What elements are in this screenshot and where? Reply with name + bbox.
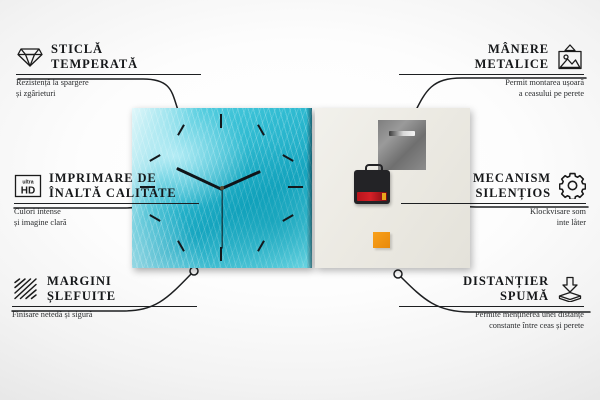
callout-description: Klockvisare som inte låter: [401, 207, 586, 229]
callout-title: MARGINI ȘLEFUITE: [47, 274, 116, 303]
callout-divider: [12, 306, 197, 307]
ultra-hd-icon: ultra HD: [14, 172, 42, 200]
callout-high-quality-print: ultra HD IMPRIMARE DE ÎNALTĂ CALITATE Cu…: [14, 171, 199, 229]
callout-polished-edges: MARGINI ȘLEFUITE Finisare netedă și sigu…: [12, 274, 197, 321]
hanger-slot: [389, 131, 415, 136]
callout-divider: [399, 74, 584, 75]
polished-edges-icon: [12, 275, 40, 303]
mechanism-hook: [365, 164, 383, 174]
clock-hour-hand: [221, 170, 261, 190]
foam-spacer-icon: [556, 275, 584, 303]
callout-divider: [399, 306, 584, 307]
battery: [357, 192, 387, 201]
callout-divider: [14, 203, 199, 204]
callout-description: Permit montarea ușoară a ceasului pe per…: [399, 78, 584, 100]
callout-divider: [401, 203, 586, 204]
callout-title: STICLĂ TEMPERATĂ: [51, 42, 138, 71]
callout-description: Permite menținerea unei distanțe constan…: [399, 310, 584, 332]
foam-spacer-pad: [373, 232, 390, 248]
callout-description: Culori intense și imagine clară: [14, 207, 199, 229]
callout-silent-mechanism: MECANISM SILENȚIOS Klockvisare som inte …: [401, 171, 586, 229]
callout-description: Finisare netedă și sigură: [12, 310, 197, 321]
battery-tip: [382, 193, 386, 200]
callout-metal-handles: MÂNERE METALICE Permit montarea ușoară a…: [399, 42, 584, 100]
callout-title: MÂNERE METALICE: [475, 42, 549, 71]
callout-description: Rezistență la spargere și zgârieturi: [16, 78, 201, 100]
infographic-canvas: STICLĂ TEMPERATĂ Rezistență la spargere …: [0, 0, 600, 400]
callout-foam-spacer: DISTANȚIER SPUMĂ Permite menținerea unei…: [399, 274, 584, 332]
clock-second-hand: [221, 189, 222, 249]
callout-title: IMPRIMARE DE ÎNALTĂ CALITATE: [49, 171, 177, 200]
callout-divider: [16, 74, 201, 75]
diamond-icon: [16, 43, 44, 71]
callout-title: DISTANȚIER SPUMĂ: [463, 274, 549, 303]
picture-hanger-icon: [556, 43, 584, 71]
clock-center-pin: [220, 186, 224, 190]
gear-icon: [558, 172, 586, 200]
callout-title: MECANISM SILENȚIOS: [473, 171, 551, 200]
callout-tempered-glass: STICLĂ TEMPERATĂ Rezistență la spargere …: [16, 42, 201, 100]
metal-hanger-plate: [378, 120, 426, 170]
clock-mechanism: [354, 170, 390, 204]
svg-text:HD: HD: [21, 185, 35, 196]
